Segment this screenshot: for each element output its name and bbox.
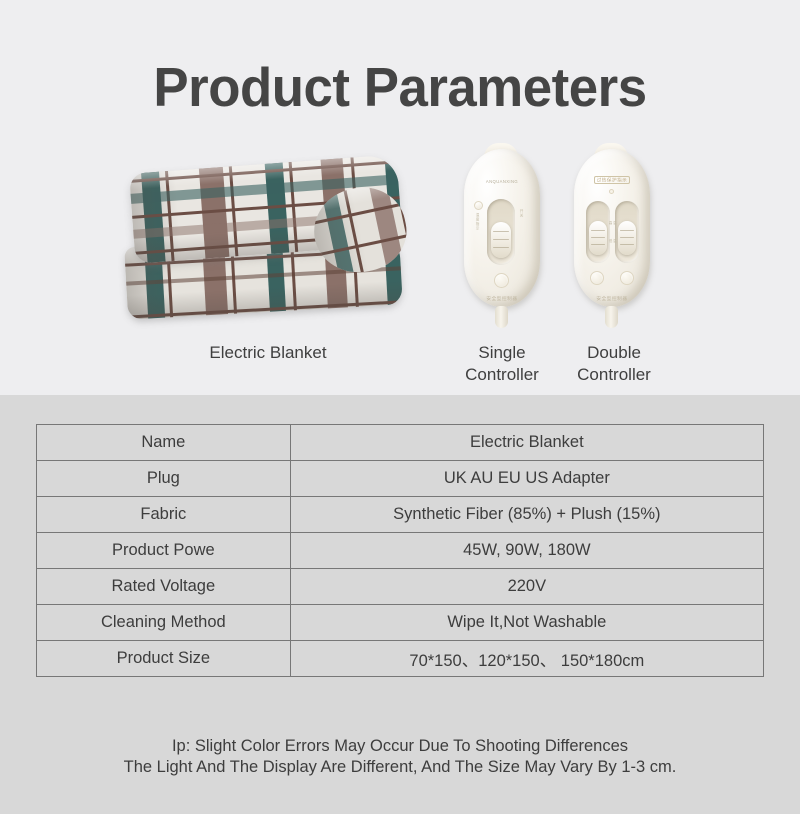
table-row: Rated Voltage 220V (37, 569, 764, 605)
spec-value: Electric Blanket (290, 425, 763, 461)
controller-body-single: ANQUANXING 温度指示 开关 (464, 149, 540, 307)
caption-electric-blanket: Electric Blanket (168, 342, 368, 364)
temp-label-high: 高温 (607, 221, 619, 226)
slider-knob-right[interactable] (618, 221, 636, 255)
spec-key: Fabric (37, 497, 291, 533)
spec-key: Plug (37, 461, 291, 497)
status-led-double (609, 189, 614, 194)
indicator-ring-single (474, 201, 483, 210)
overheat-protection-label: 过热保护指示 (570, 177, 654, 183)
spec-value: Wipe It,Not Washable (290, 605, 763, 641)
disclaimer-note: Ip: Slight Color Errors May Occur Due To… (0, 736, 800, 778)
spec-table-body: Name Electric Blanket Plug UK AU EU US A… (37, 425, 764, 677)
slider-knob-single[interactable] (491, 222, 511, 258)
table-row: Fabric Synthetic Fiber (85%) + Plush (15… (37, 497, 764, 533)
spec-value: 220V (290, 569, 763, 605)
disclaimer-line-2: The Light And The Display Are Different,… (0, 757, 800, 778)
spec-key: Product Powe (37, 533, 291, 569)
page-title: Product Parameters (16, 57, 784, 117)
slider-slot-left (586, 201, 610, 263)
table-row: Cleaning Method Wipe It,Not Washable (37, 605, 764, 641)
product-caption-row: Electric Blanket Single Controller Doubl… (0, 338, 800, 394)
controller-body-double: 过热保护指示 高温 低温 (574, 149, 650, 307)
controller-side-text-right: 开关 (520, 209, 525, 218)
spec-key: Cleaning Method (37, 605, 291, 641)
controller-cord-double (605, 306, 618, 328)
slider-slot-single (487, 199, 515, 265)
temp-label-low: 低温 (607, 239, 619, 244)
spec-value: 70*150、120*150、 150*180cm (290, 641, 763, 677)
blanket-illustration (118, 140, 418, 335)
disclaimer-line-1: Ip: Slight Color Errors May Occur Due To… (0, 736, 800, 757)
controller-foot-text-double: 安全型控制器 (570, 296, 654, 302)
caption-double-controller: Double Controller (550, 342, 678, 386)
spec-value: UK AU EU US Adapter (290, 461, 763, 497)
table-row: Plug UK AU EU US Adapter (37, 461, 764, 497)
table-row: Product Size 70*150、120*150、 150*180cm (37, 641, 764, 677)
spec-key: Rated Voltage (37, 569, 291, 605)
power-button-left[interactable] (590, 271, 604, 285)
controller-cord-single (495, 306, 508, 328)
product-image-row: ANQUANXING 温度指示 开关 安全型控制器 过热保护指示 (0, 135, 800, 340)
double-controller-image: 过热保护指示 高温 低温 (570, 143, 654, 328)
spec-key: Name (37, 425, 291, 461)
caption-double-line1: Double (550, 342, 678, 364)
caption-single-line1: Single (440, 342, 564, 364)
controller-side-text-left: 温度指示 (476, 213, 481, 231)
power-button-single[interactable] (494, 273, 509, 288)
caption-single-line2: Controller (440, 364, 564, 386)
spec-value: 45W, 90W, 180W (290, 533, 763, 569)
caption-single-controller: Single Controller (440, 342, 564, 386)
power-button-right[interactable] (620, 271, 634, 285)
slider-knob-left[interactable] (589, 221, 607, 255)
spec-value: Synthetic Fiber (85%) + Plush (15%) (290, 497, 763, 533)
spec-key: Product Size (37, 641, 291, 677)
controller-foot-text-single: 安全型控制器 (460, 296, 544, 302)
controller-brand-text: ANQUANXING (460, 179, 544, 184)
product-parameters-table: Name Electric Blanket Plug UK AU EU US A… (36, 424, 764, 677)
slider-slot-right (615, 201, 639, 263)
table-row: Name Electric Blanket (37, 425, 764, 461)
overheat-protection-label-text: 过热保护指示 (594, 176, 631, 184)
single-controller-image: ANQUANXING 温度指示 开关 安全型控制器 (460, 143, 544, 328)
table-row: Product Powe 45W, 90W, 180W (37, 533, 764, 569)
caption-double-line2: Controller (550, 364, 678, 386)
electric-blanket-image (118, 140, 418, 335)
